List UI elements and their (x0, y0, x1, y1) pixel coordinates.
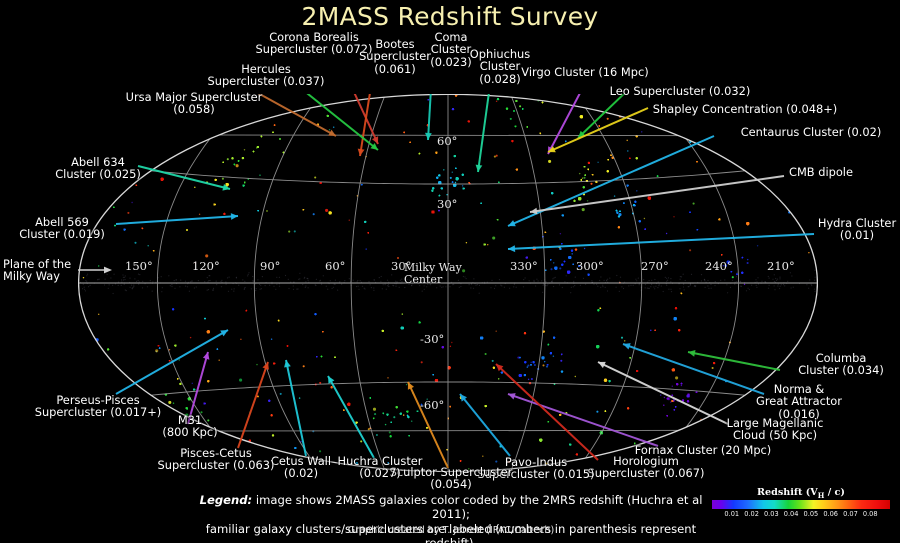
colorbar-tick: 0.04 (784, 510, 799, 518)
colorbar-tick: 0.05 (804, 510, 819, 518)
colorbar-tick: 0.03 (764, 510, 779, 518)
colorbar-tick: 0.02 (744, 510, 759, 518)
label-hydra-cluster: Hydra Cluster (0.01) (816, 217, 898, 242)
colorbar-tick: 0.08 (863, 510, 878, 518)
legend-bold: Legend: (200, 493, 253, 507)
colorbar-tick: 0.07 (843, 510, 858, 518)
survey-figure: 2MASS Redshift Survey 150° 120° 90° 60° … (0, 0, 900, 543)
label-centaurus-cluster: Centaurus Cluster (0.02) (728, 126, 894, 138)
colorbar-tick: 0.06 (823, 510, 838, 518)
colorbar-title-main: Redshift (V (757, 487, 818, 498)
plane-of-milky-way-label: Plane of the Milky Way (3, 258, 71, 283)
lon-tick-60: 60° (325, 259, 345, 273)
label-hercules-supercluster: Hercules Supercluster (0.037) (193, 63, 339, 88)
colorbar-tick: 0.01 (724, 510, 739, 518)
legend-line-1: image shows 2MASS galaxies color coded b… (252, 493, 702, 521)
colorbar: Redshift (VH / c) 0.010.020.030.040.050.… (706, 487, 896, 529)
lat-tick-m60: -60° (420, 398, 444, 412)
label-columba-cluster: Columba Cluster (0.034) (793, 352, 889, 377)
lat-tick-60: 60° (437, 134, 457, 148)
page-title: 2MASS Redshift Survey (0, 2, 900, 31)
lat-tick-m30: -30° (420, 332, 444, 346)
label-abell-569-cluster: Abell 569 Cluster (0.019) (10, 216, 114, 241)
label-norma-great-attractor: Norma & Great Attractor (0.016) (744, 383, 854, 420)
lon-tick-90: 90° (260, 259, 280, 273)
colorbar-title-tail: / c) (824, 487, 845, 498)
lon-tick-120: 120° (192, 259, 220, 273)
lon-tick-300: 300° (576, 259, 604, 273)
label-ursa-major-supercluster: Ursa Major Supercluster (0.058) (104, 91, 284, 116)
label-virgo-cluster: Virgo Cluster (16 Mpc) (517, 66, 653, 78)
label-cmb-dipole: CMB dipole (789, 166, 853, 178)
label-leo-supercluster: Leo Supercluster (0.032) (605, 85, 755, 97)
lat-tick-30: 30° (437, 197, 457, 211)
credit-text: Graphic created by T. Jarrett (IPAC/Calt… (186, 525, 716, 536)
colorbar-title: Redshift (VH / c) (706, 487, 896, 500)
label-large-magellanic-cloud: Large Magellanic Cloud (50 Kpc) (709, 417, 841, 442)
label-huchra-cluster: Huchra Cluster (0.027) (324, 455, 436, 480)
milky-way-center-label: Milky Way Center (404, 262, 476, 286)
colorbar-ticks: 0.010.020.030.040.050.060.070.08 (712, 510, 890, 522)
label-pisces-cetus-supercluster: Pisces-Cetus Supercluster (0.063) (144, 447, 288, 472)
colorbar-gradient (712, 500, 890, 509)
lon-tick-210: 210° (767, 259, 795, 273)
lon-tick-150: 150° (125, 259, 153, 273)
label-perseus-pisces-supercluster: Perseus-Pisces Supercluster (0.017+) (27, 394, 169, 419)
lon-tick-330: 330° (510, 259, 538, 273)
lon-tick-240: 240° (705, 259, 733, 273)
lon-tick-270: 270° (641, 259, 669, 273)
label-shapley-concentration: Shapley Concentration (0.048+) (650, 103, 840, 115)
label-abell-634-cluster: Abell 634 Cluster (0.025) (46, 156, 150, 181)
